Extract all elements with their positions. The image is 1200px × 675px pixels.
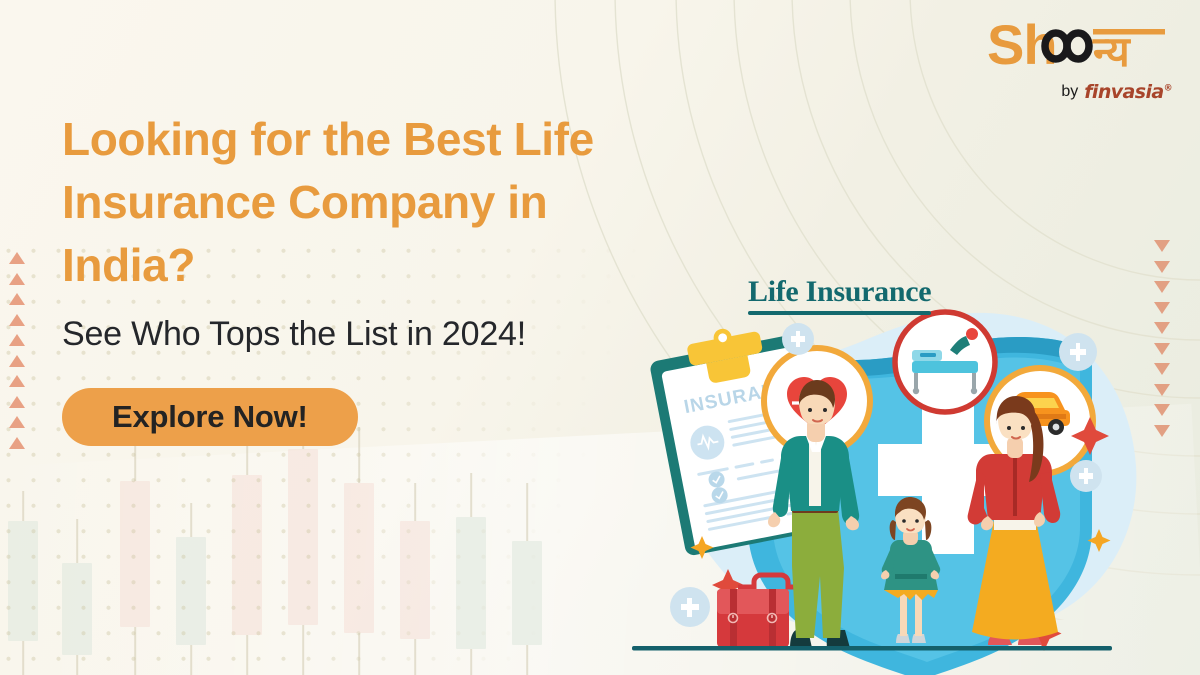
candlestick-body (512, 541, 542, 645)
insurance-promo-banner: Sh न्य by finvasia® Looking for the Best… (0, 0, 1200, 675)
svg-text:न्य: न्य (1092, 27, 1131, 76)
logo-wordmark: Sh न्य (987, 16, 1172, 78)
candlestick-body (232, 475, 262, 635)
plus-badge-icon (670, 587, 710, 627)
candlestick (176, 503, 206, 675)
explore-now-button[interactable]: Explore Now! (62, 388, 358, 446)
candlestick (232, 425, 262, 675)
illustration-title: Life Insurance (748, 275, 931, 315)
candlestick-body (288, 449, 318, 625)
candlestick-body (400, 521, 430, 639)
triangle-down-icon (1154, 240, 1170, 252)
triangle-up-icon (9, 273, 25, 285)
candlestick (120, 419, 150, 675)
candlestick-body (176, 537, 206, 645)
candlestick-wick (134, 419, 136, 675)
page-subtitle: See Who Tops the List in 2024! (62, 314, 662, 355)
candlestick-body (344, 483, 374, 633)
logo-by-label: by (1061, 83, 1078, 101)
ground-line (632, 646, 1112, 651)
candlestick (288, 419, 318, 675)
logo-brand-finvasia: finvasia® (1084, 81, 1172, 103)
triangle-up-icon (9, 355, 25, 367)
triangle-up-icon (9, 252, 25, 264)
candlestick-wick (22, 491, 24, 675)
candlestick-wick (358, 427, 360, 675)
shoonya-logo[interactable]: Sh न्य by finvasia® (987, 16, 1172, 103)
candlestick-wick (302, 419, 304, 675)
hospital-bed-icon (895, 312, 995, 412)
candlestick-wick (246, 425, 248, 675)
promo-copy-block: Looking for the Best Life Insurance Comp… (62, 108, 662, 446)
candlestick (456, 473, 486, 675)
triangle-up-icon (9, 437, 25, 449)
page-title: Looking for the Best Life Insurance Comp… (62, 108, 662, 297)
triangle-up-icon (9, 375, 25, 387)
candlestick-wick (190, 503, 192, 675)
candlestick (344, 427, 374, 675)
candlestick-wick (526, 483, 528, 675)
candlestick (62, 519, 92, 675)
candlestick-body (120, 481, 150, 627)
logo-byline: by finvasia® (987, 81, 1172, 103)
triangle-up-icon (9, 334, 25, 346)
registered-mark-icon: ® (1164, 84, 1172, 94)
candlestick (400, 483, 430, 675)
candlestick-body (8, 521, 38, 641)
plus-badge-icon (782, 323, 814, 355)
plus-badge-icon (1070, 460, 1102, 492)
triangle-up-icon (9, 293, 25, 305)
candlestick (512, 483, 542, 675)
triangle-up-icon (9, 396, 25, 408)
triangle-up-icon (9, 314, 25, 326)
candlestick-wick (470, 473, 472, 675)
life-insurance-illustration: INSURANCE (620, 258, 1200, 675)
candlestick-body (62, 563, 92, 655)
candlestick (8, 491, 38, 675)
plus-badge-icon (1059, 333, 1097, 371)
candlestick-wick (76, 519, 78, 675)
left-triangle-rail (9, 252, 25, 449)
candlestick-body (456, 517, 486, 649)
candlestick-wick (414, 483, 416, 675)
triangle-up-icon (9, 416, 25, 428)
